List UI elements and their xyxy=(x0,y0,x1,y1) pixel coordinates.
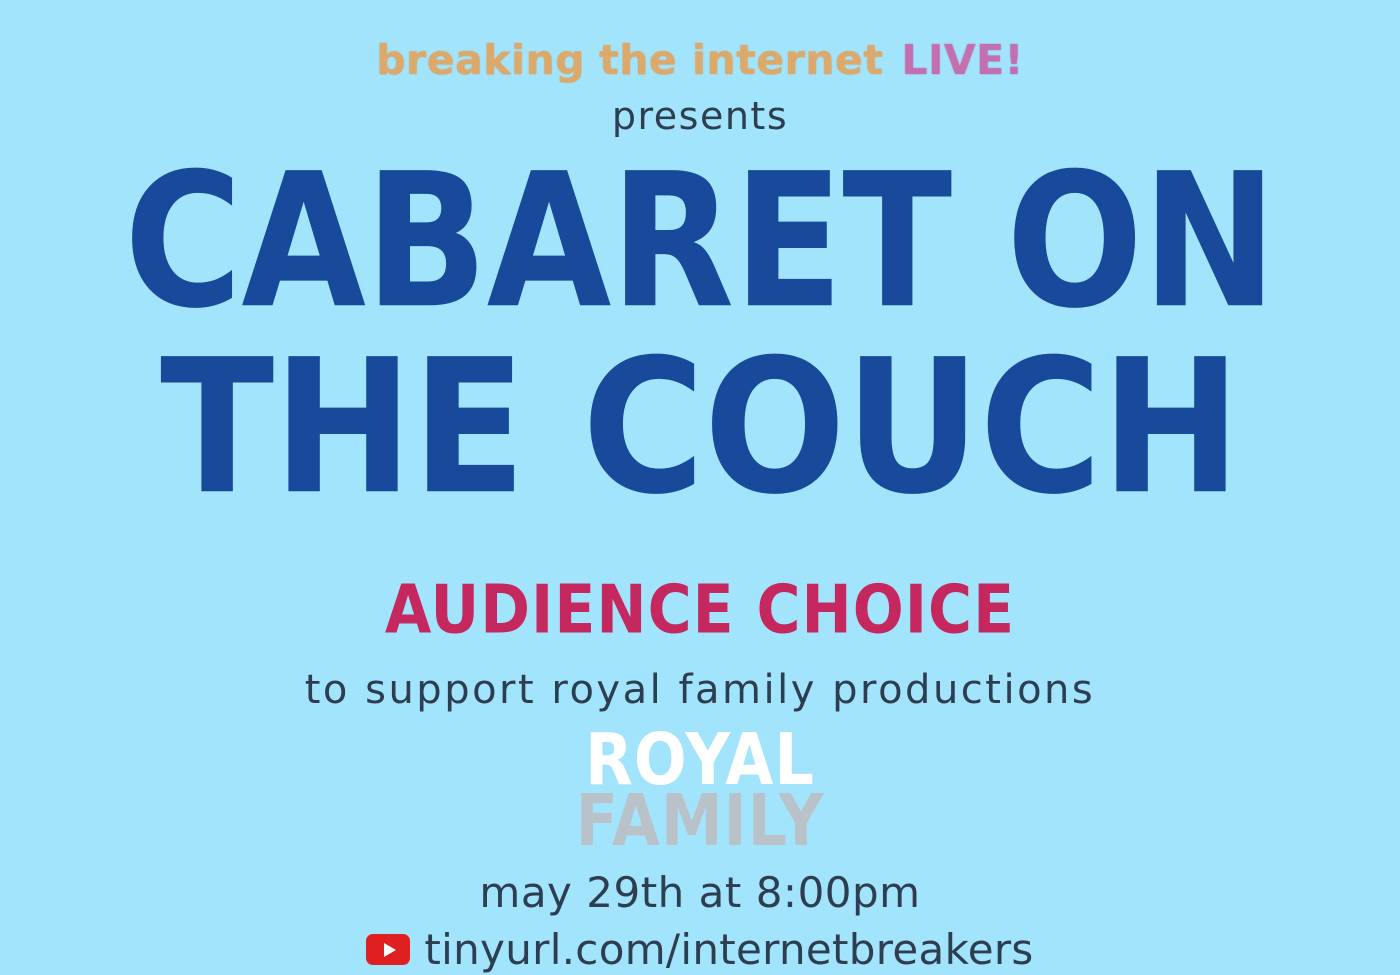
support-tagline: to support royal family productions xyxy=(305,667,1096,713)
event-poster: breaking the internet LIVE! presents CAB… xyxy=(0,0,1400,975)
title-line-one: CABARET ON xyxy=(0,154,1400,330)
brand-breaking-text: breaking xyxy=(376,36,585,84)
main-title: CABARET ON THE COUCH xyxy=(0,154,1400,485)
royal-family-logo: ROYAL FAMILY xyxy=(576,731,825,843)
brand-the-internet-text: the internet xyxy=(599,36,883,84)
title-line-two: THE COUCH xyxy=(0,340,1400,516)
brand-live-text: LIVE! xyxy=(901,36,1023,84)
audience-choice-subtitle: AUDIENCE CHOICE xyxy=(385,571,1015,649)
youtube-icon xyxy=(366,934,410,965)
stream-link-row[interactable]: tinyurl.com/internetbreakers xyxy=(366,925,1033,974)
brand-header: breaking the internet LIVE! xyxy=(376,34,1024,86)
event-date-time: may 29th at 8:00pm xyxy=(479,868,920,917)
logo-family-text: FAMILY xyxy=(576,792,825,850)
stream-link-text[interactable]: tinyurl.com/internetbreakers xyxy=(424,925,1033,974)
presents-label: presents xyxy=(612,94,788,138)
play-triangle-icon xyxy=(384,943,396,957)
